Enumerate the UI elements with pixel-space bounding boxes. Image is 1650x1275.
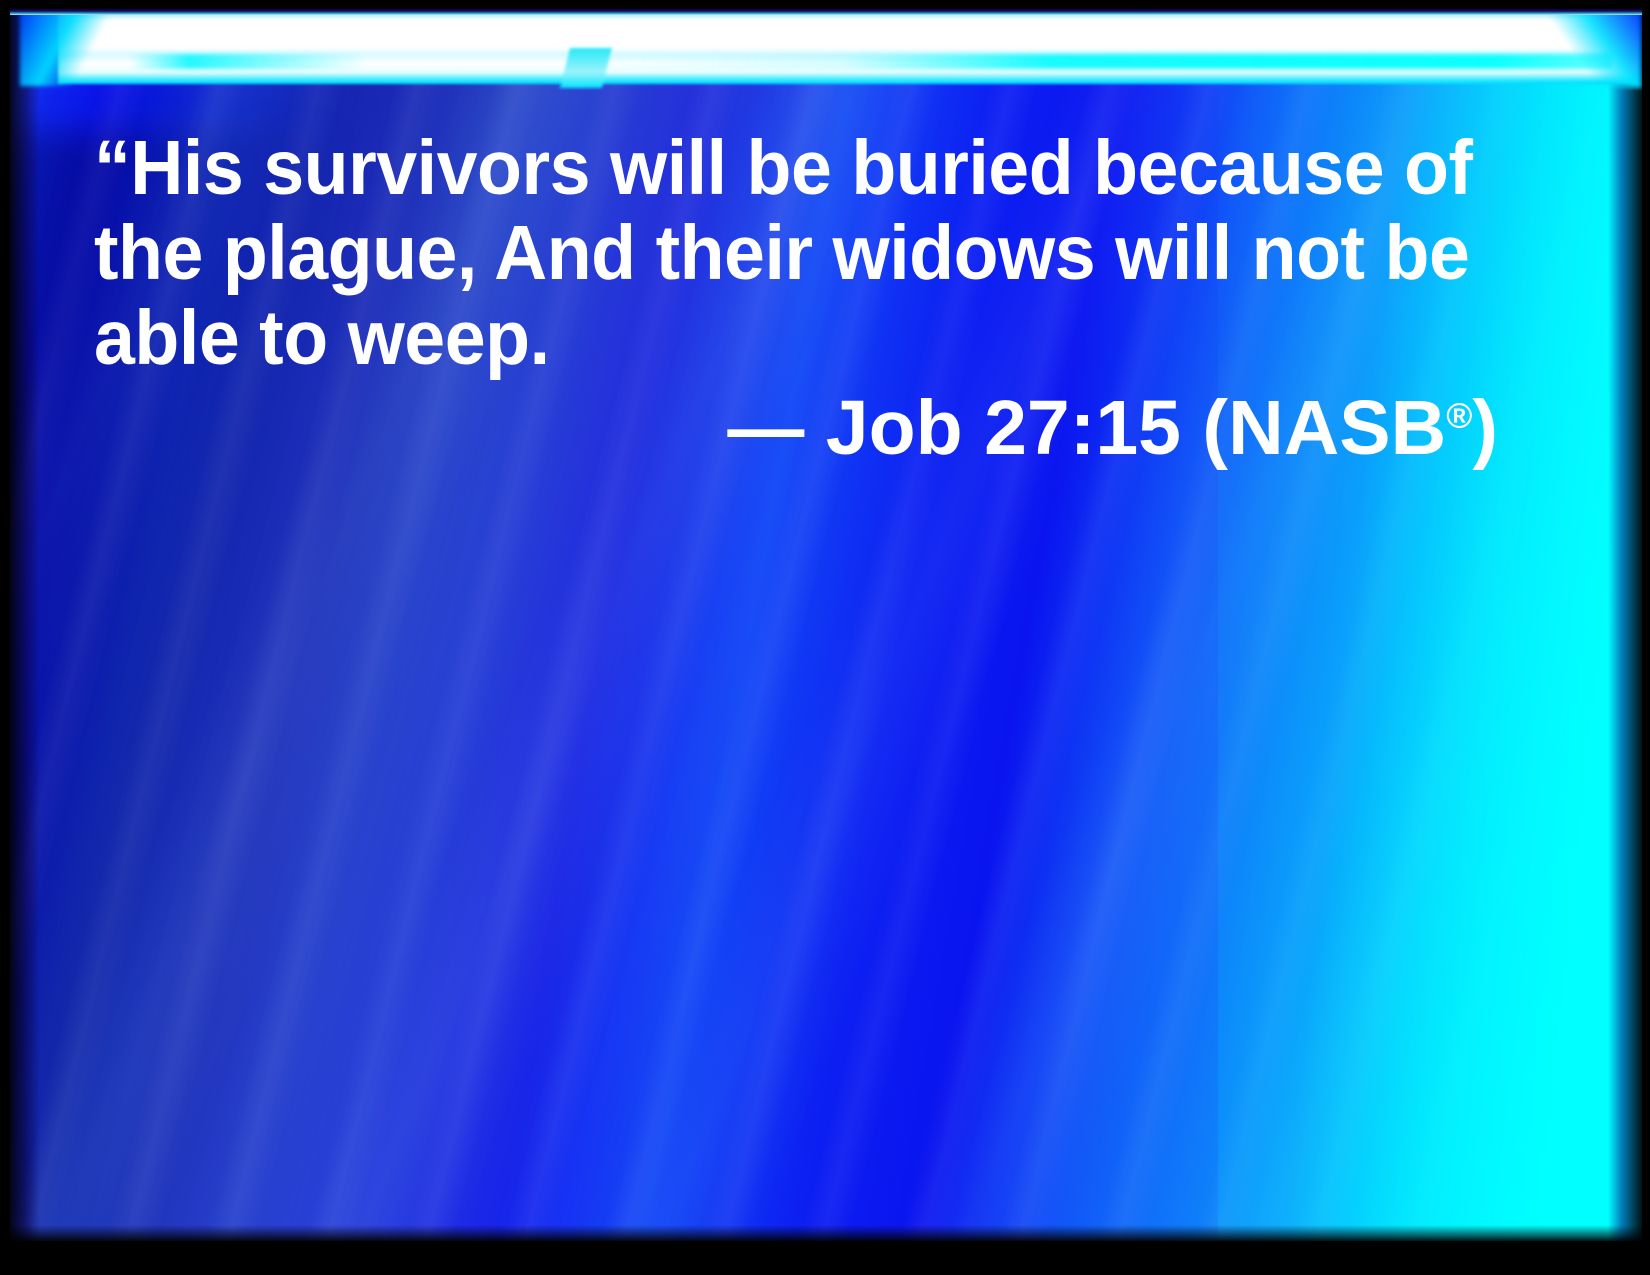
registered-trademark-icon: ® [1446,395,1472,435]
top-banner [10,8,1642,90]
attribution-translation-open: (NASB [1202,385,1446,471]
verse-text-block: “His survivors will be buried because of… [94,126,1514,381]
attribution-dash: — [727,385,804,471]
verse-line-1: “His survivors will be buried because of [94,126,1450,211]
attribution-reference: Job 27:15 [826,385,1181,471]
top-banner-white-bar [58,10,1638,84]
slide-canvas: “His survivors will be buried because of… [10,8,1642,1241]
background-left-edge-shadow [10,8,40,1241]
top-banner-left-wedge [20,10,130,86]
background-bottom-edge-shadow [10,1225,1642,1241]
top-banner-cyan-streak [130,54,1612,69]
attribution-translation-close: ) [1472,385,1498,471]
top-banner-right-wedge [1532,10,1642,88]
verse-line-3: able to weep. [94,296,1450,381]
top-banner-hairline [10,8,1642,15]
verse-attribution: — Job 27:15 (NASB®) [94,386,1514,471]
verse-line-2: the plague, And their widows will not be [94,211,1450,296]
background-right-edge-shadow [1608,8,1642,1241]
verse-slide: “His survivors will be buried because of… [0,0,1650,1275]
